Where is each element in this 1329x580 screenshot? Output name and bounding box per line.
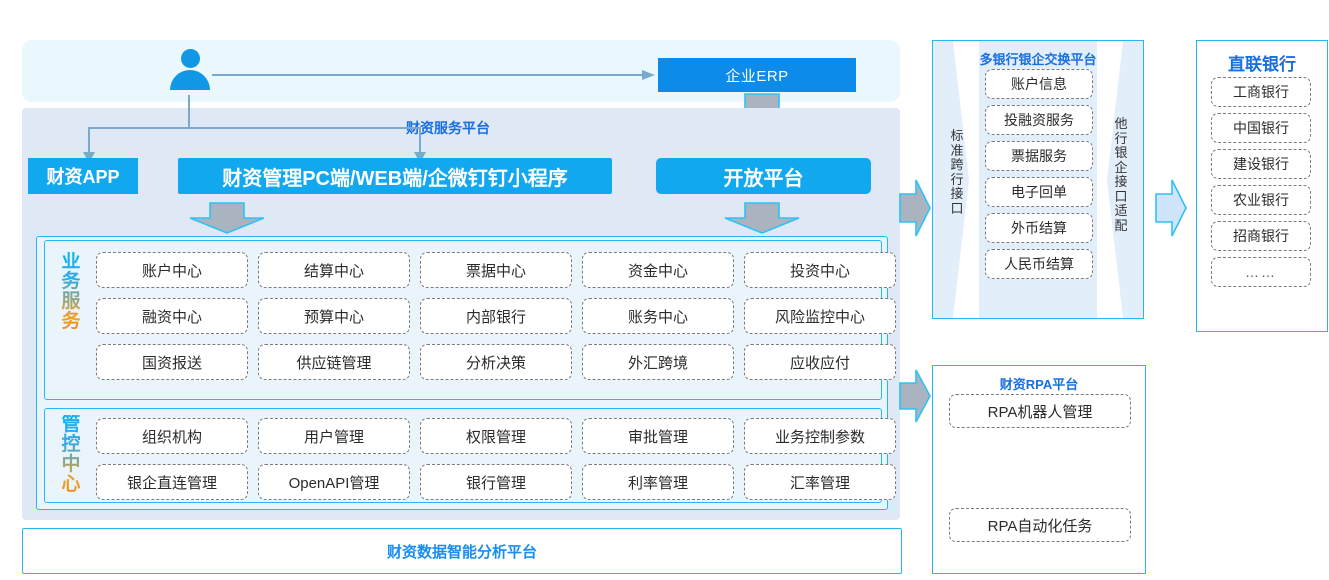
exchange-title: 多银行银企交换平台 [933,49,1143,68]
user-icon [168,49,210,95]
data-analysis-platform-bar: 财资数据智能分析平台 [22,528,902,574]
control-center-grid: 组织机构 用户管理 权限管理 审批管理 业务控制参数 银企直连管理 OpenAP… [96,418,896,500]
user-body [170,70,210,90]
connector-right [419,127,421,154]
label-char: 适 [1111,204,1131,219]
rpa-item[interactable]: RPA机器人管理 [949,394,1131,428]
service-item[interactable]: 预算中心 [258,298,410,334]
label-char: 心 [56,475,86,495]
rpa-item[interactable]: RPA自动化任务 [949,508,1131,542]
exchange-item[interactable]: 投融资服务 [985,105,1093,135]
control-center-label: 管 控 中 心 [56,415,86,495]
label-char: 标 [947,129,967,144]
arrow-line [212,74,644,76]
label-char: 业 [56,252,86,272]
bank-item[interactable]: 招商银行 [1211,221,1311,251]
business-services-grid: 账户中心 结算中心 票据中心 资金中心 投资中心 融资中心 预算中心 内部银行 … [96,252,896,380]
service-item[interactable]: 风险监控中心 [744,298,896,334]
connector-bar [88,127,421,129]
platform-to-rpa-arrow-icon [898,368,932,424]
control-item[interactable]: 审批管理 [582,418,734,454]
user-to-erp-arrow [212,70,658,80]
user-head [181,49,200,68]
service-item[interactable]: 分析决策 [420,344,572,380]
rpa-title: 财资RPA平台 [933,374,1145,393]
exchange-to-banks-arrow-icon [1154,178,1188,238]
label-char: 银 [1111,146,1131,161]
banks-list: 工商银行 中国银行 建设银行 农业银行 招商银行 …… [1211,77,1311,287]
service-item[interactable]: 内部银行 [420,298,572,334]
other-bank-interface-adapter-label: 他 行 银 企 接 口 适 配 [1111,117,1131,233]
service-item[interactable]: 账务中心 [582,298,734,334]
service-item[interactable]: 融资中心 [96,298,248,334]
control-item[interactable]: OpenAPI管理 [258,464,410,500]
connector-stem [188,95,190,128]
label-char: 口 [947,202,967,217]
service-item[interactable]: 国资报送 [96,344,248,380]
architecture-diagram: 企业ERP 财资服务平台 财资APP 财资管理PC端/WEB端/企微钉钉小程序 … [0,0,1329,580]
label-char: 控 [56,435,86,455]
service-item[interactable]: 外汇跨境 [582,344,734,380]
exchange-item[interactable]: 账户信息 [985,69,1093,99]
label-char: 接 [1111,175,1131,190]
label-char: 务 [56,272,86,292]
bank-item[interactable]: 中国银行 [1211,113,1311,143]
label-char: 口 [1111,190,1131,205]
app-down-arrow-icon [188,201,266,235]
label-char: 务 [56,312,86,332]
service-item[interactable]: 结算中心 [258,252,410,288]
bank-item[interactable]: 建设银行 [1211,149,1311,179]
user-branch-connector [80,95,430,165]
control-item[interactable]: 银行管理 [420,464,572,500]
exchange-item[interactable]: 外币结算 [985,213,1093,243]
standard-interbank-interface-label: 标 准 跨 行 接 口 [947,129,967,216]
arrow-head [642,70,655,80]
exchange-item[interactable]: 人民币结算 [985,249,1093,279]
service-item[interactable]: 供应链管理 [258,344,410,380]
exchange-service-list: 账户信息 投融资服务 票据服务 电子回单 外币结算 人民币结算 [985,69,1093,279]
service-item[interactable]: 应收应付 [744,344,896,380]
control-item[interactable]: 用户管理 [258,418,410,454]
control-item[interactable]: 汇率管理 [744,464,896,500]
control-item[interactable]: 权限管理 [420,418,572,454]
business-services-label: 业 务 服 务 [56,252,86,332]
bank-item[interactable]: 工商银行 [1211,77,1311,107]
open-platform-down-arrow-icon [723,201,801,235]
bank-item[interactable]: 农业银行 [1211,185,1311,215]
label-char: 管 [56,415,86,435]
bank-item-more[interactable]: …… [1211,257,1311,287]
multi-bank-exchange-platform: 多银行银企交换平台 标 准 跨 行 接 口 他 行 银 企 接 口 适 配 账户… [932,40,1144,319]
exchange-item[interactable]: 电子回单 [985,177,1093,207]
treasury-pc-web-button[interactable]: 财资管理PC端/WEB端/企微钉钉小程序 [178,158,612,194]
service-item[interactable]: 账户中心 [96,252,248,288]
label-char: 配 [1111,219,1131,234]
control-item[interactable]: 利率管理 [582,464,734,500]
control-item[interactable]: 业务控制参数 [744,418,896,454]
direct-connect-banks-panel: 直联银行 工商银行 中国银行 建设银行 农业银行 招商银行 …… [1196,40,1328,332]
platform-to-exchange-arrow-icon [898,178,932,238]
control-item[interactable]: 组织机构 [96,418,248,454]
service-item[interactable]: 票据中心 [420,252,572,288]
control-item[interactable]: 银企直连管理 [96,464,248,500]
label-char: 接 [947,187,967,202]
label-char: 行 [1111,132,1131,147]
label-char: 企 [1111,161,1131,176]
label-char: 中 [56,455,86,475]
erp-box[interactable]: 企业ERP [658,58,856,92]
service-item[interactable]: 资金中心 [582,252,734,288]
label-char: 服 [56,292,86,312]
label-char: 跨 [947,158,967,173]
treasury-app-button[interactable]: 财资APP [28,158,138,194]
exchange-item[interactable]: 票据服务 [985,141,1093,171]
banks-title: 直联银行 [1197,50,1327,75]
open-platform-button[interactable]: 开放平台 [656,158,871,194]
label-char: 他 [1111,117,1131,132]
treasury-rpa-platform: 财资RPA平台 RPA机器人管理 RPA自动化任务 [932,365,1146,574]
label-char: 准 [947,144,967,159]
service-item[interactable]: 投资中心 [744,252,896,288]
label-char: 行 [947,173,967,188]
connector-left [88,127,90,154]
